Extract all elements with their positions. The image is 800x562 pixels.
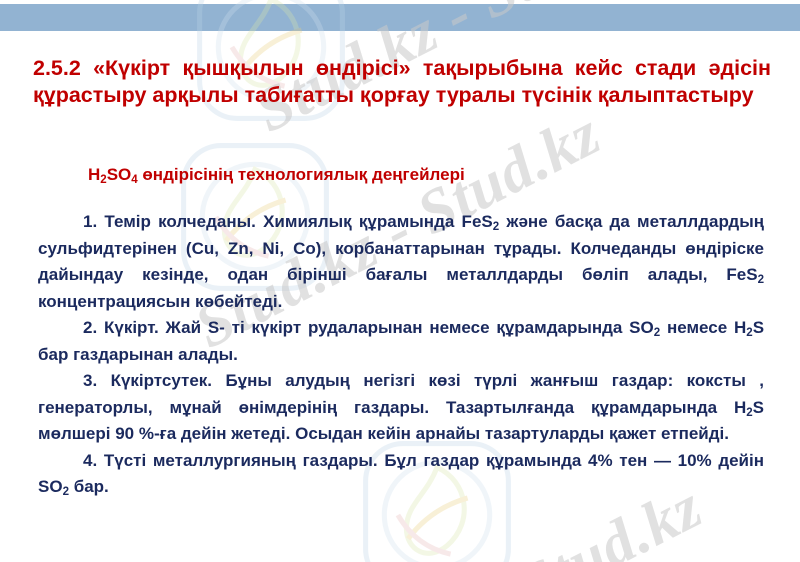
item-number: 1. [83,212,97,231]
subtitle-formula-so: SO [107,165,132,184]
item-number: 3. [83,371,97,390]
formula-subscript: 2 [493,221,499,233]
item-text-a: Жай S- ті күкірт рудаларынан немесе құра… [159,318,654,337]
paragraph-item-4: 4. Түсті металлургияның газдары. Бұл газ… [38,448,764,501]
subtitle-formula-sub-4: 4 [131,174,137,186]
paragraph-item-3: 3. Күкіртсутек. Бұны алудың негізгі көзі… [38,368,764,448]
formula-subscript: 2 [746,327,752,339]
formula-subscript: 2 [746,407,752,419]
item-text-b: бар. [69,477,109,496]
formula-subscript: 2 [758,274,764,286]
item-text-c: концентрациясын көбейтеді. [38,292,282,311]
formula-subscript: 2 [63,486,69,498]
subtitle-formula-h: H [88,165,100,184]
slide-content: 2.5.2 «Күкірт қышқылын өндірісі» тақырыб… [0,0,800,562]
item-text-a: Химиялық құрамында FeS [256,212,493,231]
formula-subscript: 2 [654,327,660,339]
item-text-b: немесе H [660,318,746,337]
item-lead: Күкірт. [97,318,159,337]
slide-subtitle: H2SO4 өндірісінің технологиялық деңгейле… [88,164,465,186]
item-lead: Күкіртсутек. [97,371,212,390]
subtitle-formula-sub-2: 2 [100,174,106,186]
slide-canvas: Stud.kz - Stud.kz Stud.kz - Stud.kz Stud… [0,0,800,562]
item-lead: Темір колчеданы. [97,212,256,231]
item-number: 4. [83,451,97,470]
slide-body: 1. Темір колчеданы. Химиялық құрамында F… [38,209,764,501]
paragraph-item-1: 1. Темір колчеданы. Химиялық құрамында F… [38,209,764,315]
item-lead: Түсті металлургияның газдары. [97,451,377,470]
item-number: 2. [83,318,97,337]
slide-title: 2.5.2 «Күкірт қышқылын өндірісі» тақырыб… [33,55,771,108]
subtitle-rest: өндірісінің технологиялық деңгейлері [138,165,465,184]
paragraph-item-2: 2. Күкірт. Жай S- ті күкірт рудаларынан … [38,315,764,368]
